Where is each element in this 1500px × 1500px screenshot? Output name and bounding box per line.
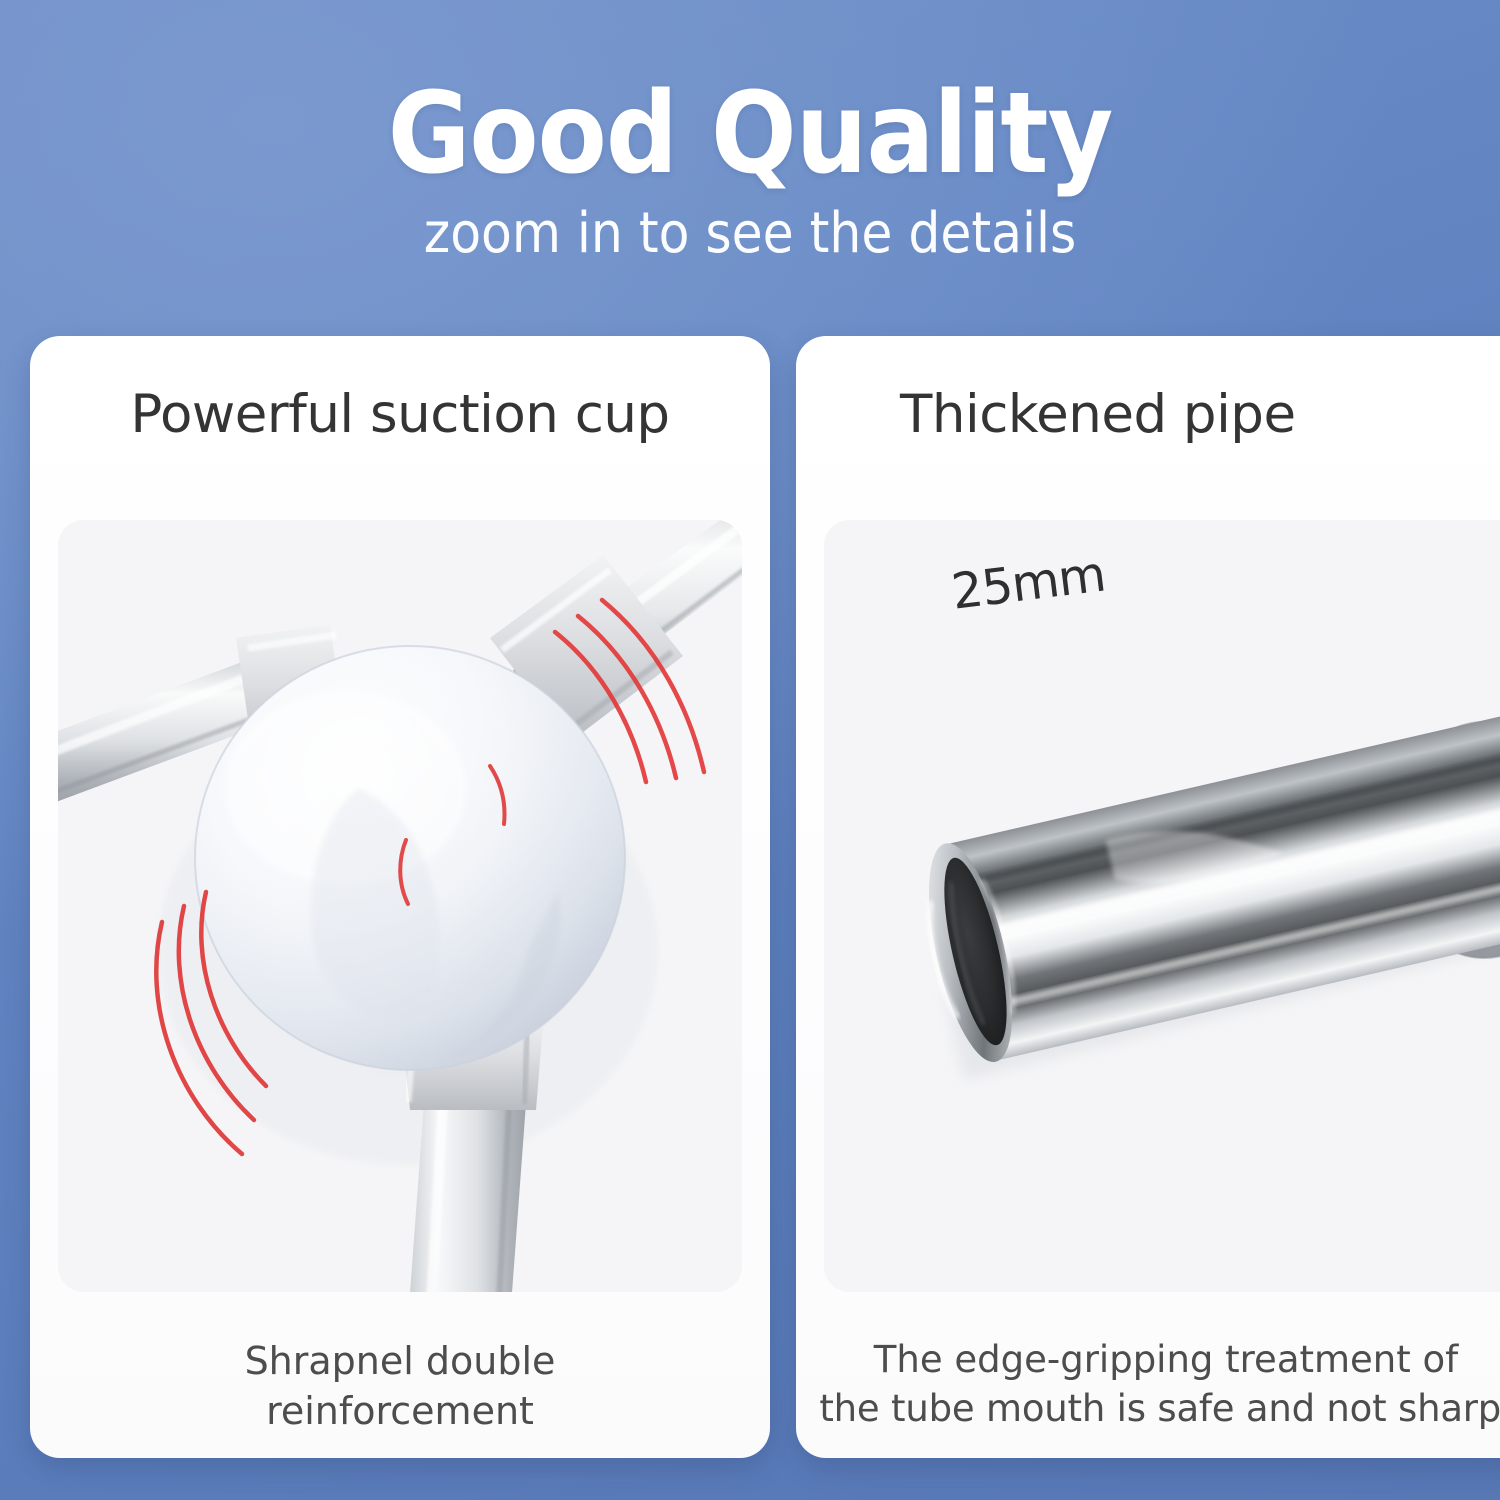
page-title: Good Quality — [0, 0, 1500, 190]
card-caption: Shrapnel double reinforcement — [30, 1336, 770, 1436]
page-subtitle: zoom in to see the details — [0, 190, 1500, 262]
caption-line-2: the tube mouth is safe and not sharp. — [800, 1385, 1500, 1434]
suction-cup-illustration — [58, 520, 742, 1292]
caption-line-1: Shrapnel double — [44, 1336, 756, 1386]
feature-card-suction-cup[interactable]: Powerful suction cup 01 — [30, 336, 770, 1458]
caption-line-1: The edge-gripping treatment of — [800, 1336, 1500, 1385]
header-block: Good Quality zoom in to see the details — [0, 0, 1500, 262]
chrome-pipe-illustration — [824, 520, 1500, 1292]
card-caption: The edge-gripping treatment of the tube … — [796, 1336, 1500, 1434]
card-image-panel: 02 — [824, 520, 1500, 1292]
feature-card-thickened-pipe[interactable]: Thickened pipe 02 — [796, 336, 1500, 1458]
infographic-canvas: Good Quality zoom in to see the details … — [0, 0, 1500, 1500]
card-image-panel: 01 — [58, 520, 742, 1292]
card-title: Thickened pipe — [796, 384, 1296, 445]
card-title: Powerful suction cup — [30, 384, 770, 445]
caption-line-2: reinforcement — [44, 1386, 756, 1436]
